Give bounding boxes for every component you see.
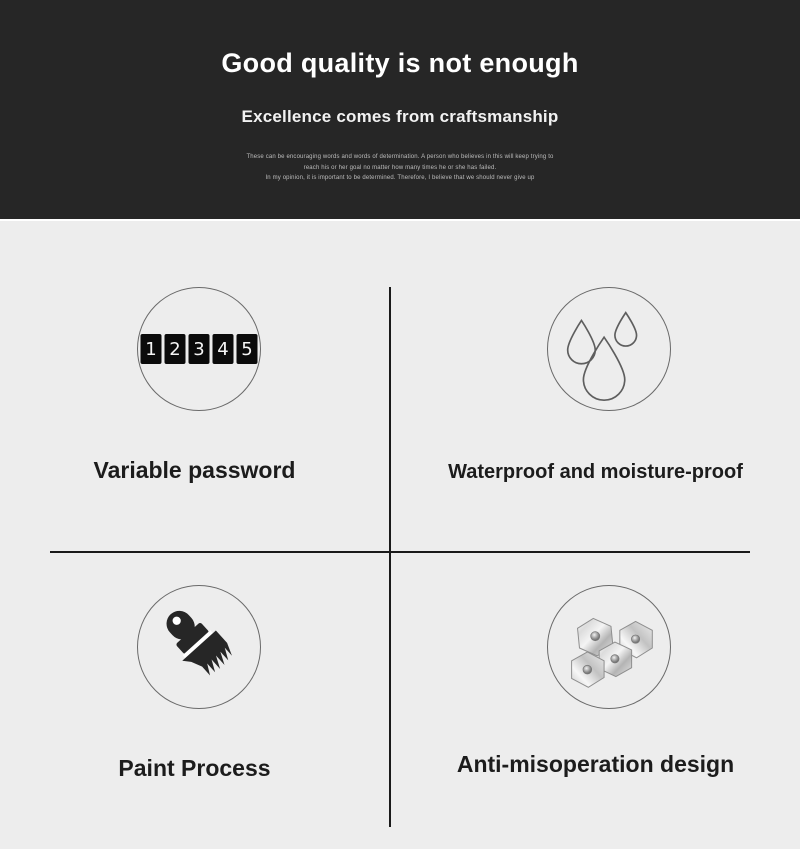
feature-label: Variable password [0,457,389,484]
lock-digit: 3 [189,334,210,364]
lock-digit-row: 1 2 3 4 5 [141,334,258,364]
water-droplets-glyph [548,288,670,410]
paint-brush-icon [137,585,261,709]
feature-variable-password: 1 2 3 4 5 Variable password [0,261,389,551]
feature-label: Paint Process [0,755,389,782]
metal-hexagon-plates-glyph [548,586,670,708]
hero-paragraph: These can be encouraging words and words… [0,152,800,184]
lock-digit: 1 [141,334,162,364]
lock-digit: 5 [237,334,258,364]
lock-digit: 2 [165,334,186,364]
feature-grid: 1 2 3 4 5 Variable password Waterproof a… [0,219,800,849]
metal-hexagon-plates-icon [547,585,671,709]
hero-paragraph-line-2: reach his or her goal no matter how many… [0,163,800,174]
combination-lock-digits-icon: 1 2 3 4 5 [137,287,261,411]
page-subtitle: Excellence comes from craftsmanship [0,107,800,127]
page-title: Good quality is not enough [0,48,800,78]
feature-paint-process: Paint Process [0,553,389,843]
feature-label: Anti-misoperation design [391,751,800,778]
water-droplets-icon [547,287,671,411]
hero-paragraph-line-1: These can be encouraging words and words… [0,152,800,163]
feature-waterproof: Waterproof and moisture-proof [391,261,800,551]
hero-paragraph-line-3: In my opinion, it is important to be det… [0,173,800,184]
feature-label: Waterproof and moisture-proof [391,461,800,484]
paint-brush-glyph [138,586,260,708]
hero-banner: Good quality is not enough Excellence co… [0,0,800,219]
lock-digit: 4 [213,334,234,364]
feature-anti-misoperation: Anti-misoperation design [391,553,800,843]
